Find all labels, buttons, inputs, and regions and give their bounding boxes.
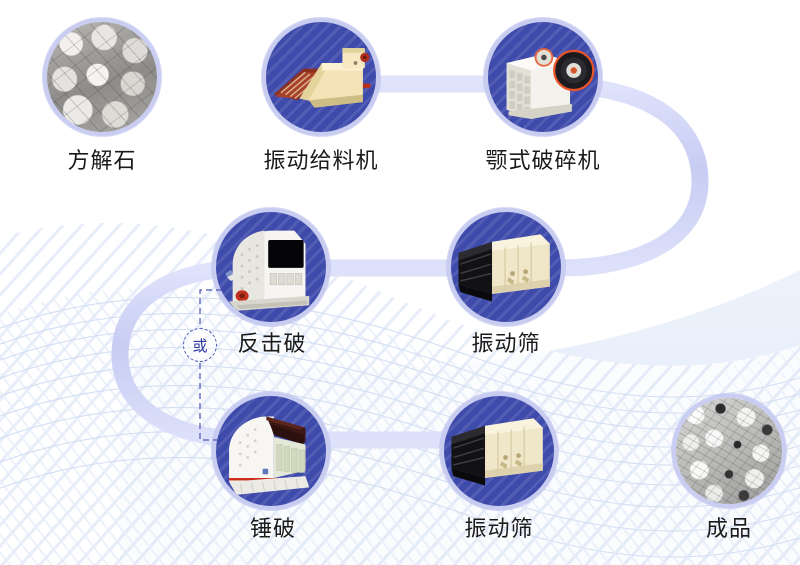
calcite-rock-photo bbox=[47, 22, 157, 132]
process-flow-diagram: 方解石 bbox=[0, 0, 800, 565]
caption-jaw-crusher: 颚式破碎机 bbox=[463, 150, 623, 172]
impact-crusher-bubble[interactable] bbox=[212, 208, 330, 326]
caption-calcite: 方解石 bbox=[22, 150, 182, 172]
caption-hammer-crusher: 锤破 bbox=[225, 518, 321, 540]
caption-vibrating-screen-1: 振动筛 bbox=[445, 333, 567, 355]
jaw-crusher-icon bbox=[488, 22, 598, 132]
calcite-bubble[interactable] bbox=[43, 18, 161, 136]
vibrating-feeder-icon bbox=[266, 22, 376, 132]
vibrating-screen-icon bbox=[444, 396, 554, 506]
vibrating-feeder-bubble[interactable] bbox=[262, 18, 380, 136]
vibrating-screen-1-bubble[interactable] bbox=[447, 208, 565, 326]
caption-vibrating-screen-2: 振动筛 bbox=[438, 518, 560, 540]
vibrating-screen-2-bubble[interactable] bbox=[440, 392, 558, 510]
caption-impact-crusher: 反击破 bbox=[211, 333, 333, 355]
hammer-crusher-icon bbox=[216, 396, 326, 506]
finished-product-gravel-photo bbox=[676, 398, 782, 504]
finished-product-bubble[interactable] bbox=[672, 394, 786, 508]
or-label: 或 bbox=[192, 335, 207, 356]
caption-vibrating-feeder: 振动给料机 bbox=[241, 150, 401, 172]
jaw-crusher-bubble[interactable] bbox=[484, 18, 602, 136]
caption-finished-product: 成品 bbox=[681, 518, 777, 540]
vibrating-screen-icon bbox=[451, 212, 561, 322]
impact-crusher-icon bbox=[216, 212, 326, 322]
or-badge: 或 bbox=[183, 328, 217, 362]
hammer-crusher-bubble[interactable] bbox=[212, 392, 330, 510]
